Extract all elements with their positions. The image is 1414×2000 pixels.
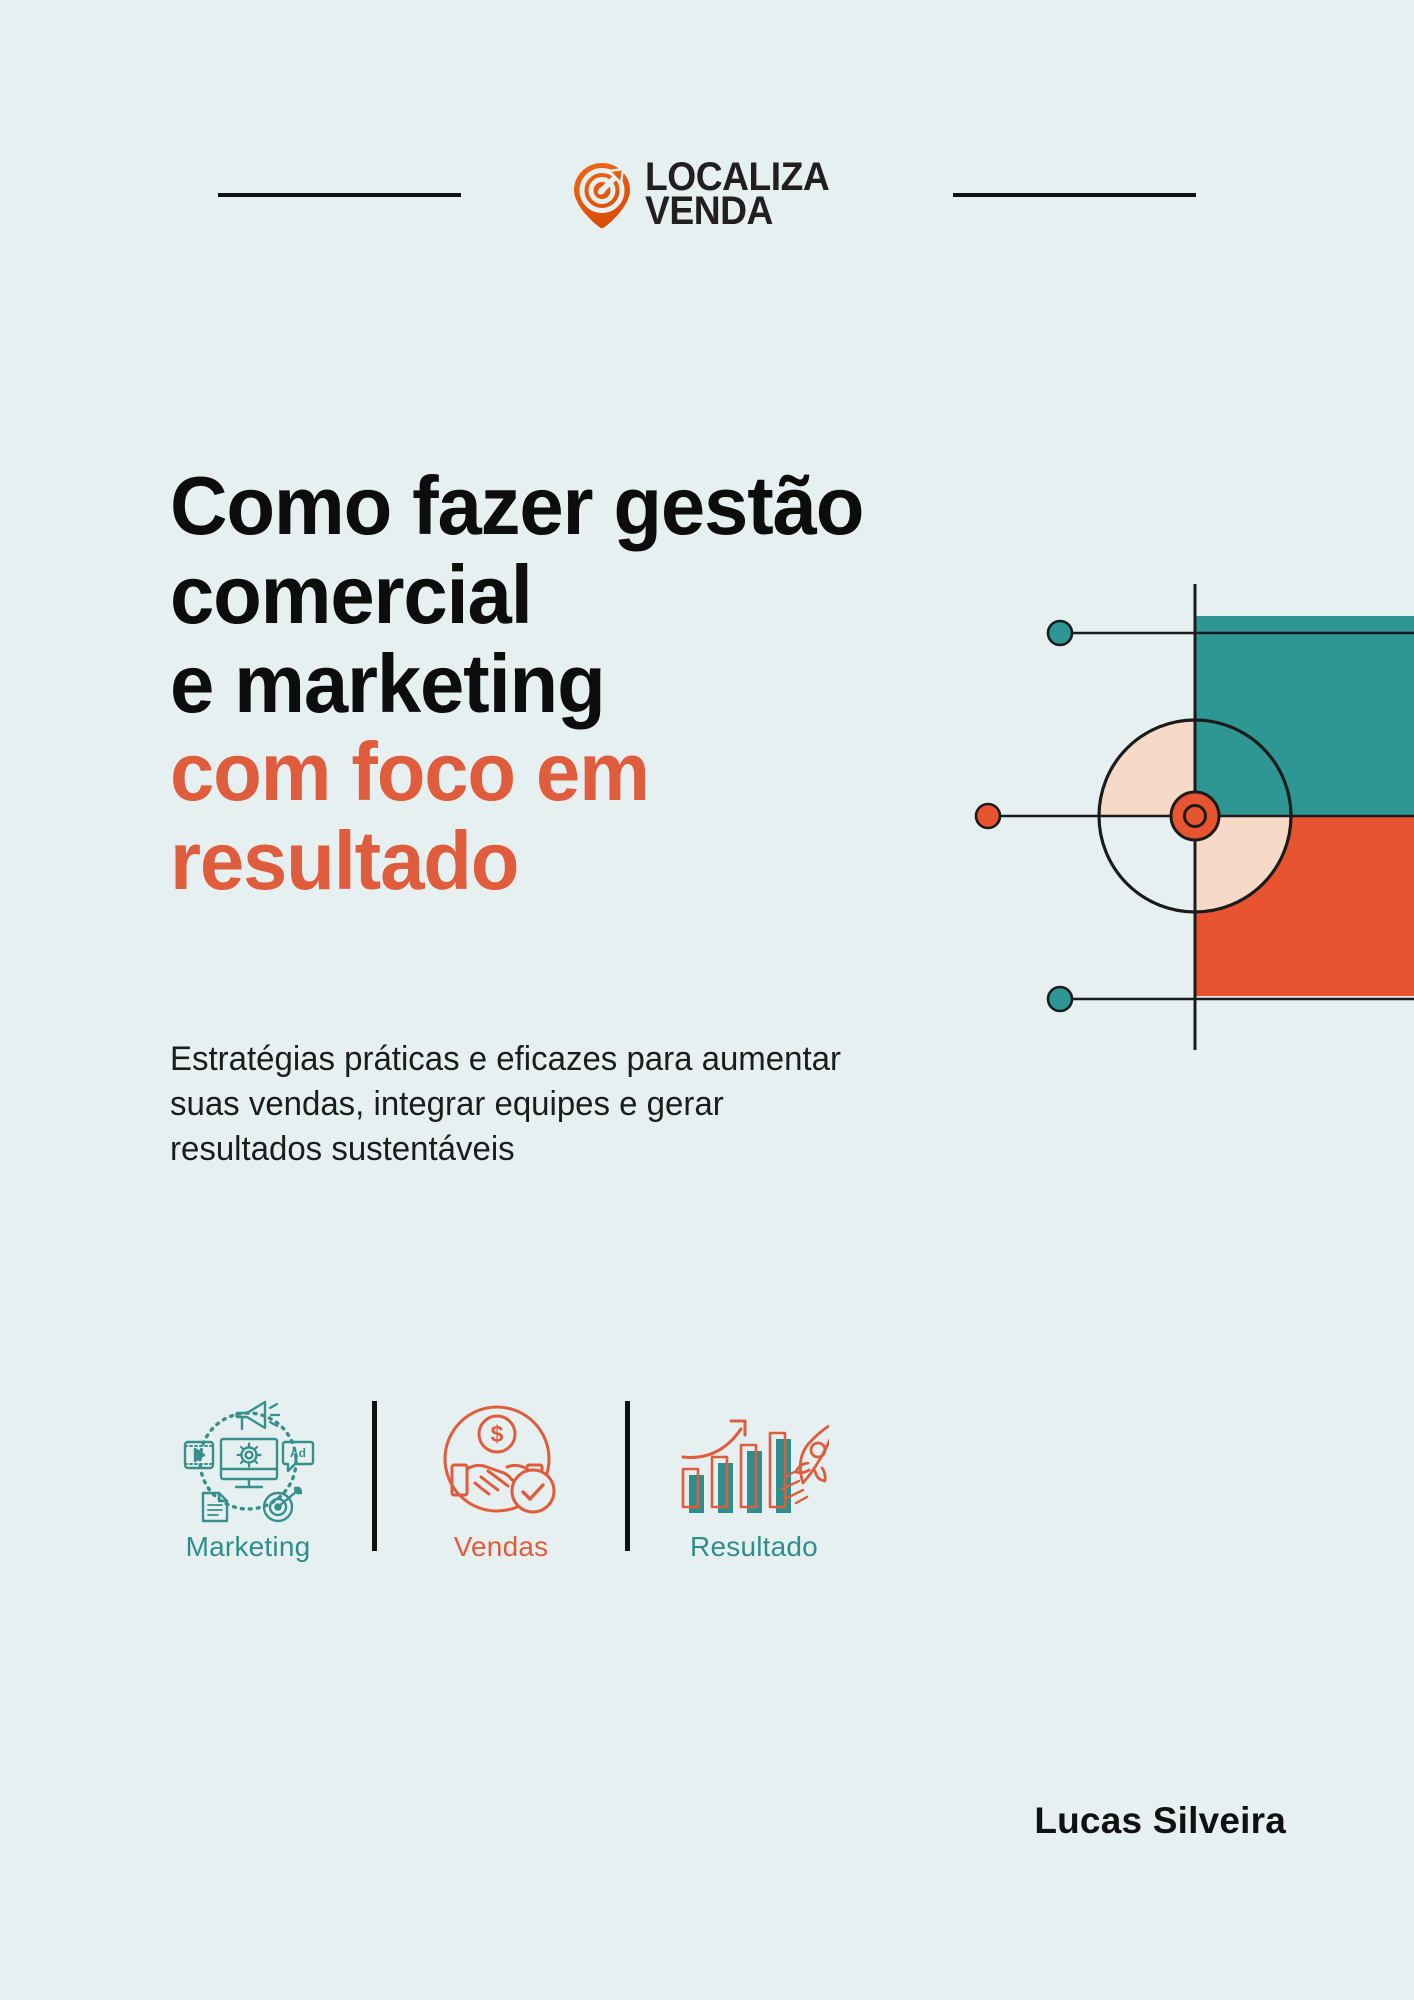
pillar-label-vendas: Vendas (454, 1531, 549, 1563)
pillar-row: Ad Marketing (150, 1395, 852, 1590)
handshake-dollar-check-icon: $ (439, 1395, 563, 1525)
subtitle-line-1: Estratégias práticas e eficazes para aum… (170, 1037, 1024, 1082)
pillar-resultado[interactable]: Resultado (656, 1395, 852, 1590)
title-line-1: Como fazer gestão (170, 462, 880, 551)
brand-logo: LOCALIZA VENDA (571, 161, 843, 229)
node-bottom-left (1048, 987, 1072, 1011)
pillar-divider-2 (625, 1401, 630, 1551)
subtitle-line-3: resultados sustentáveis (170, 1127, 1024, 1172)
center-ring-outer (1171, 792, 1219, 840)
author-name: Lucas Silveira (1034, 1800, 1286, 1842)
header-rule-right (953, 193, 1196, 197)
title-line-3: e marketing (170, 640, 880, 729)
pillar-vendas[interactable]: $ Vendas (403, 1395, 599, 1590)
subtitle-line-2: suas vendas, integrar equipes e gerar (170, 1082, 1024, 1127)
brand-wordmark: LOCALIZA VENDA (645, 161, 843, 228)
svg-text:$: $ (491, 1421, 504, 1447)
node-middle-left (976, 804, 1000, 828)
header-rule-left (218, 193, 461, 197)
title-line-4: com foco em (170, 728, 880, 817)
cover-subtitle: Estratégias práticas e eficazes para aum… (170, 1037, 1024, 1173)
svg-text:Ad: Ad (290, 1446, 306, 1460)
pillar-divider-1 (372, 1401, 377, 1551)
cover-title: Como fazer gestão comercial e marketing … (170, 462, 910, 906)
bar-chart-rocket-icon (679, 1395, 829, 1525)
title-line-2: comercial (170, 551, 880, 640)
pillar-label-resultado: Resultado (690, 1531, 818, 1563)
abstract-target-quadrant-graphic (954, 555, 1414, 1050)
node-top-left (1048, 621, 1072, 645)
pillar-label-marketing: Marketing (186, 1531, 311, 1563)
cover-page: LOCALIZA VENDA Como fazer gestão comerci… (0, 0, 1414, 2000)
cover-header: LOCALIZA VENDA (0, 140, 1414, 250)
pillar-marketing[interactable]: Ad Marketing (150, 1395, 346, 1590)
target-pin-icon (571, 161, 633, 229)
title-line-5: resultado (170, 817, 880, 906)
marketing-megaphone-monitor-icon: Ad (181, 1395, 316, 1525)
brand-word-line2: VENDA (645, 195, 829, 229)
teal-square (1195, 616, 1414, 816)
